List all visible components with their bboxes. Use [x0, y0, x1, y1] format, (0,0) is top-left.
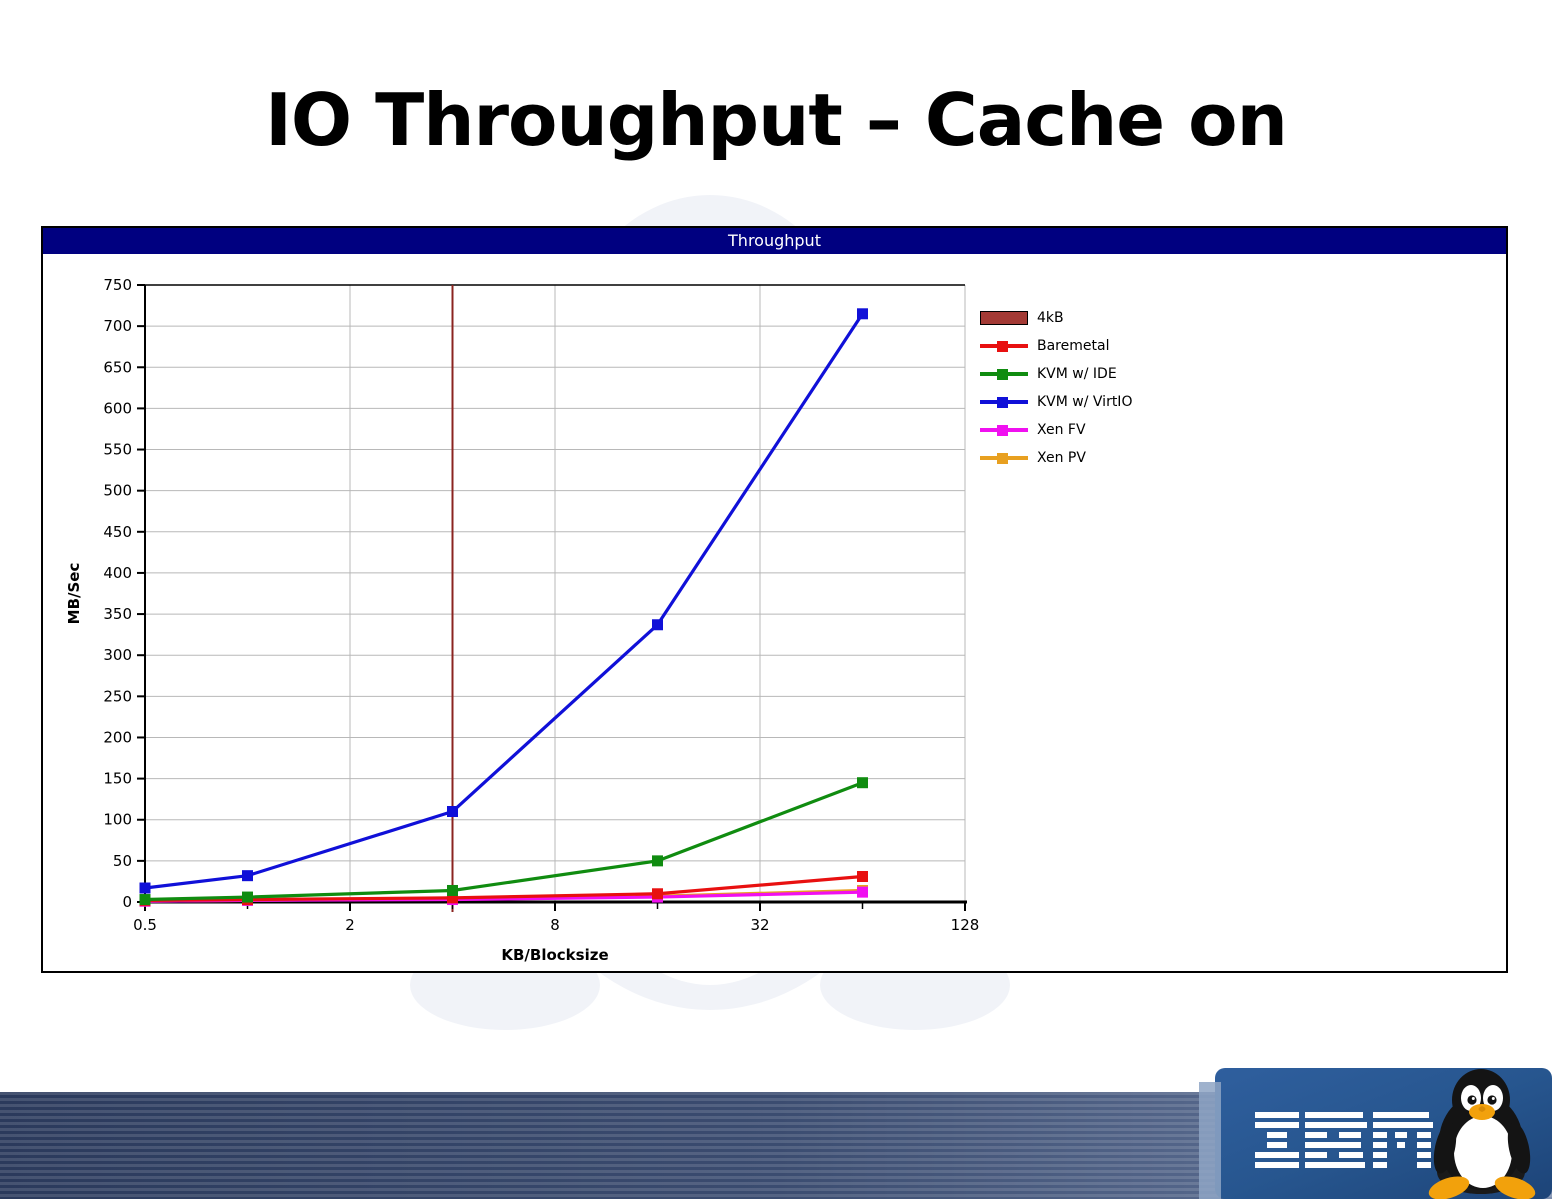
legend-item[interactable]: Baremetal: [980, 332, 1132, 360]
legend-key-marker: [997, 397, 1008, 408]
page-title: IO Throughput – Cache on: [0, 78, 1552, 162]
y-tick-label: 700: [103, 317, 132, 335]
series-marker-kvm-w-virtio: [140, 883, 151, 894]
y-tick-label: 400: [103, 564, 132, 582]
y-tick-label: 750: [103, 276, 132, 294]
y-axis-ticks: 0501001502002503003504004505005506006507…: [103, 276, 145, 911]
legend-item-label: 4kB: [1037, 310, 1064, 326]
throughput-line-chart: 0501001502002503003504004505005506006507…: [43, 254, 1506, 971]
x-tick-label: 8: [550, 916, 560, 934]
legend-key-4: [980, 424, 1028, 436]
grid-lines: [145, 285, 965, 902]
series-line-kvm-w-ide: [145, 783, 863, 900]
legend-item-label: KVM w/ VirtIO: [1037, 394, 1132, 410]
x-axis-ticks: 0.52832128: [133, 902, 979, 934]
y-tick-label: 100: [103, 811, 132, 829]
series-marker-kvm-w-virtio: [447, 806, 458, 817]
legend-key-2: [980, 368, 1028, 380]
series-marker-baremetal: [652, 888, 663, 899]
legend-item-label: Xen PV: [1037, 450, 1086, 466]
y-tick-label: 350: [103, 605, 132, 623]
series-marker-kvm-w-virtio: [242, 870, 253, 881]
legend-item[interactable]: Xen FV: [980, 416, 1132, 444]
legend-item-label: KVM w/ IDE: [1037, 366, 1117, 382]
y-tick-label: 250: [103, 687, 132, 705]
plot-area: 0501001502002503003504004505005506006507…: [43, 254, 1506, 971]
legend-item[interactable]: Xen PV: [980, 444, 1132, 472]
legend-item[interactable]: KVM w/ IDE: [980, 360, 1132, 388]
x-tick-label: 32: [750, 916, 769, 934]
x-tick-label: 0.5: [133, 916, 157, 934]
series-marker-kvm-w-ide: [140, 894, 151, 905]
series-marker-kvm-w-ide: [652, 855, 663, 866]
series-marker-kvm-w-ide: [857, 777, 868, 788]
y-tick-label: 150: [103, 770, 132, 788]
legend-key-0: [980, 311, 1028, 325]
chart-panel: Throughput 05010015020025030035040045050…: [41, 226, 1508, 973]
legend-item-label: Xen FV: [1037, 422, 1086, 438]
legend-key-marker: [997, 425, 1008, 436]
y-tick-label: 450: [103, 523, 132, 541]
series-marker-kvm-w-ide: [447, 885, 458, 896]
series-marker-kvm-w-virtio: [857, 308, 868, 319]
legend-key-marker: [997, 369, 1008, 380]
legend-key-1: [980, 340, 1028, 352]
legend-key-5: [980, 452, 1028, 464]
series-marker-kvm-w-ide: [242, 892, 253, 903]
y-axis-title: MB/Sec: [65, 563, 83, 625]
chart-window-titlebar: Throughput: [43, 228, 1506, 254]
legend-item-label: Baremetal: [1037, 338, 1109, 354]
legend-key-marker: [997, 341, 1008, 352]
legend-item[interactable]: 4kB: [980, 304, 1132, 332]
y-tick-label: 650: [103, 358, 132, 376]
series-line-kvm-w-virtio: [145, 314, 863, 888]
series-marker-kvm-w-virtio: [652, 619, 663, 630]
y-tick-label: 600: [103, 399, 132, 417]
y-tick-label: 50: [113, 852, 132, 870]
ibm-linux-logo: [1199, 1060, 1552, 1199]
y-tick-label: 500: [103, 482, 132, 500]
legend-key-3: [980, 396, 1028, 408]
legend-item[interactable]: KVM w/ VirtIO: [980, 388, 1132, 416]
y-tick-label: 200: [103, 728, 132, 746]
y-tick-label: 300: [103, 646, 132, 664]
y-tick-label: 550: [103, 441, 132, 459]
chart-series: [140, 308, 869, 906]
chart-legend: 4kBBaremetalKVM w/ IDEKVM w/ VirtIOXen F…: [980, 304, 1132, 472]
series-marker-xen-fv: [857, 887, 868, 898]
y-tick-label: 0: [122, 893, 132, 911]
series-marker-baremetal: [857, 871, 868, 882]
legend-key-marker: [997, 453, 1008, 464]
chart-window-title: Throughput: [728, 231, 821, 250]
x-axis-title: KB/Blocksize: [501, 946, 608, 964]
x-tick-label: 128: [951, 916, 980, 934]
x-tick-label: 2: [345, 916, 355, 934]
